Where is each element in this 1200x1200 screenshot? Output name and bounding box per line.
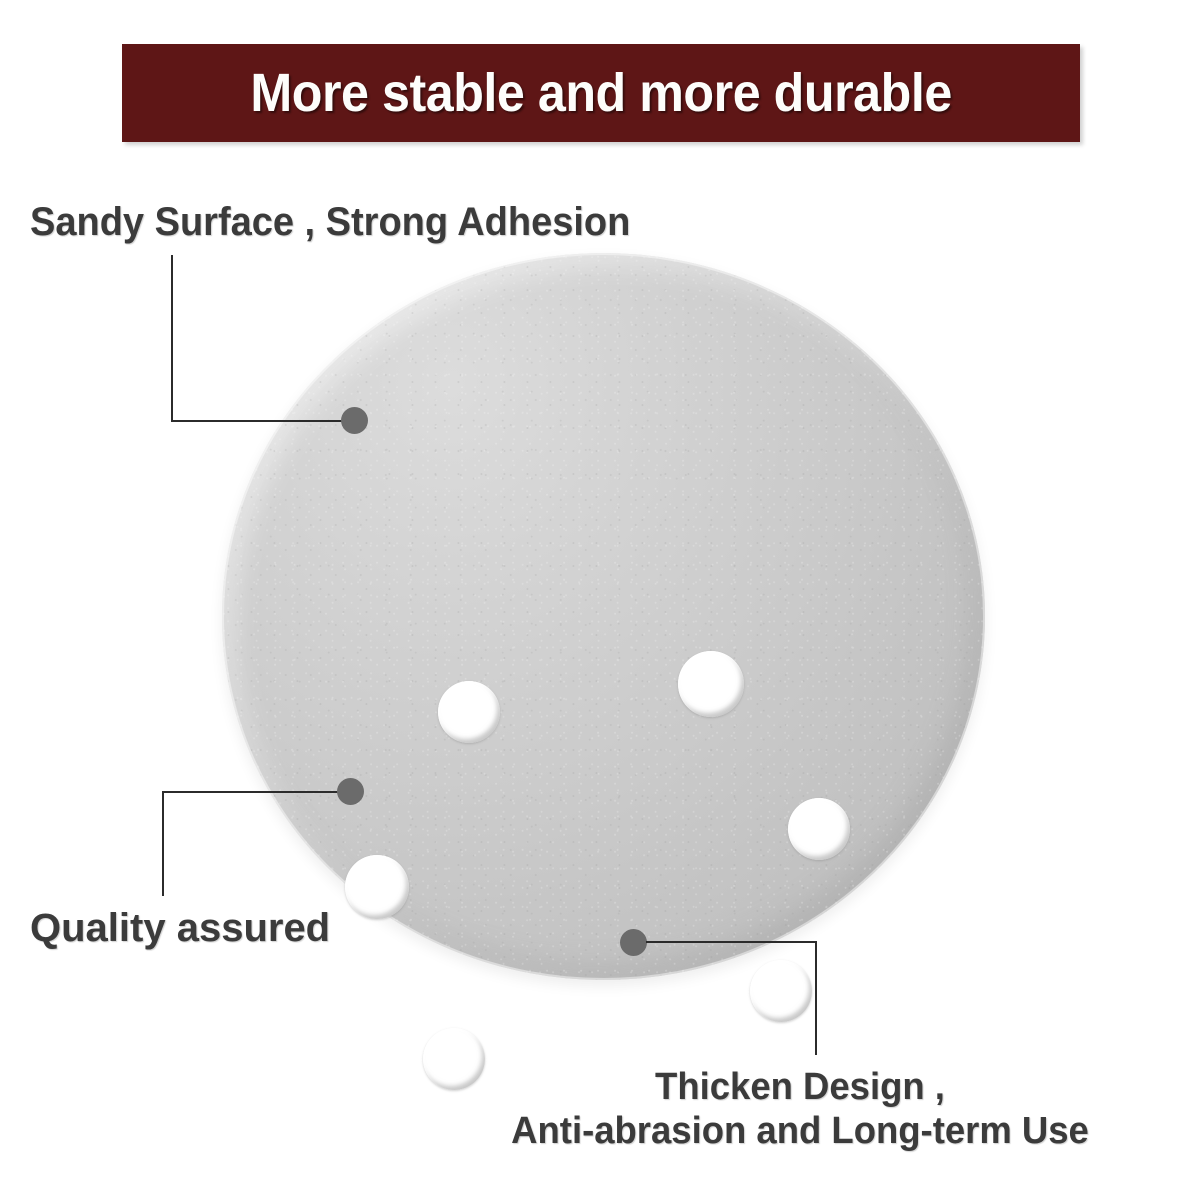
disc-rim-highlight: [222, 253, 985, 980]
callout-leader-horizontal-sandy-surface: [171, 420, 355, 422]
callout-leader-horizontal-thicken-design: [646, 941, 816, 943]
sanding-disc-body: [222, 253, 985, 980]
callout-leader-vertical-thicken-design: [815, 941, 817, 1055]
callout-label-quality-assured: Quality assured: [30, 906, 330, 951]
callout-leader-vertical-sandy-surface: [171, 255, 173, 422]
headline-banner: More stable and more durable: [122, 44, 1080, 142]
callout-label-thicken-design: Thicken Design , Anti-abrasion and Long-…: [454, 1065, 1145, 1154]
callout-leader-horizontal-quality-assured: [162, 791, 352, 793]
product-photo: [210, 243, 1000, 993]
callout-label-sandy-surface: Sandy Surface , Strong Adhesion: [30, 200, 630, 245]
dust-hole-left: [345, 855, 409, 919]
dust-hole-lower-right: [750, 960, 812, 1022]
dust-hole-right: [788, 798, 850, 860]
callout-label-thicken-design-line2: Anti-abrasion and Long-term Use: [454, 1109, 1145, 1153]
product-infographic: More stable and more durable Sandy Surfa…: [0, 0, 1200, 1200]
callout-dot-sandy-surface: [341, 407, 368, 434]
dust-hole-upper-right: [678, 651, 744, 717]
dust-hole-upper-left: [438, 681, 500, 743]
headline-text: More stable and more durable: [250, 62, 951, 124]
callout-dot-thicken-design: [620, 929, 647, 956]
callout-dot-quality-assured: [337, 778, 364, 805]
callout-label-thicken-design-line1: Thicken Design ,: [454, 1065, 1145, 1109]
callout-leader-vertical-quality-assured: [162, 791, 164, 896]
